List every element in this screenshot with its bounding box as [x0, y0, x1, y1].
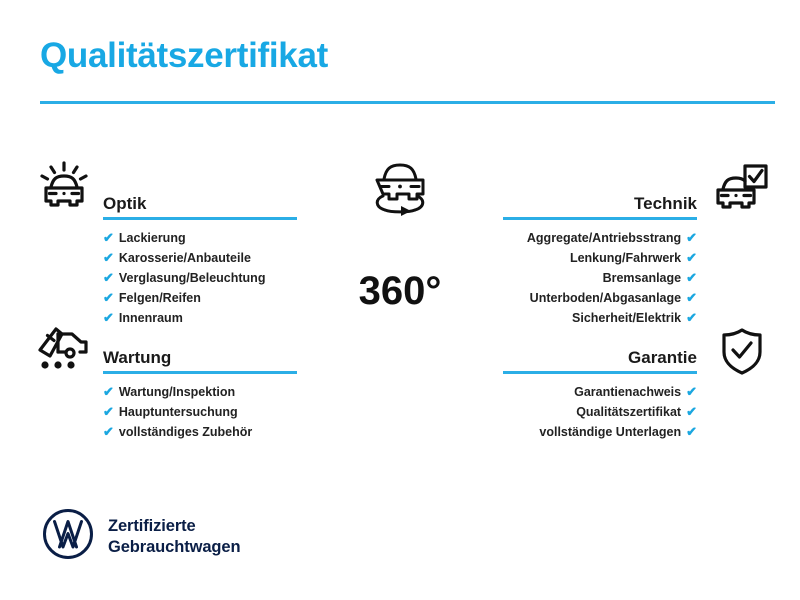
list-item-label: Innenraum — [119, 309, 183, 328]
list-item: ✔Felgen/Reifen — [103, 288, 297, 308]
list-item-label: Lenkung/Fahrwerk — [570, 249, 681, 268]
list-item: ✔Innenraum — [103, 308, 297, 328]
section-optik-underline — [103, 217, 297, 220]
list-item: ✔Hauptuntersuchung — [103, 402, 297, 422]
list-item-label: Unterboden/Abgasanlage — [530, 289, 681, 308]
section-optik: Optik ✔Lackierung ✔Karosserie/Anbauteile… — [103, 186, 297, 328]
section-technik-list: Aggregate/Antriebsstrang✔ Lenkung/Fahrwe… — [503, 228, 697, 328]
car-rotate-icon — [361, 160, 439, 218]
check-icon: ✔ — [686, 228, 697, 247]
list-item-label: Aggregate/Antriebsstrang — [527, 229, 681, 248]
list-item: Unterboden/Abgasanlage✔ — [503, 288, 697, 308]
list-item: ✔Wartung/Inspektion — [103, 382, 297, 402]
shield-check-icon — [718, 326, 766, 381]
page-title: Qualitätszertifikat — [40, 36, 328, 76]
vw-certified-lockup: Zertifizierte Gebrauchtwagen — [42, 508, 240, 565]
vw-wordmark-line2: Gebrauchtwagen — [108, 538, 240, 556]
list-item-label: Hauptuntersuchung — [119, 403, 238, 422]
list-item-label: Verglasung/Beleuchtung — [119, 269, 266, 288]
check-icon: ✔ — [686, 308, 697, 327]
check-icon: ✔ — [103, 228, 114, 247]
list-item: Aggregate/Antriebsstrang✔ — [503, 228, 697, 248]
section-garantie-list: Garantienachweis✔ Qualitätszertifikat✔ v… — [503, 382, 697, 442]
list-item: Bremsanlage✔ — [503, 268, 697, 288]
check-icon: ✔ — [103, 402, 114, 421]
car-service-icon — [34, 320, 90, 377]
vw-wordmark-line1: Zertifizierte — [108, 517, 196, 535]
check-icon: ✔ — [103, 382, 114, 401]
check-icon: ✔ — [103, 268, 114, 287]
svg-text:Gebrauchtwagen-Check: Gebrauchtwagen-Check — [312, 307, 488, 383]
check-icon: ✔ — [686, 268, 697, 287]
check-icon: ✔ — [686, 382, 697, 401]
check-icon: ✔ — [103, 308, 114, 327]
list-item-label: Felgen/Reifen — [119, 289, 201, 308]
list-item: Sicherheit/Elektrik✔ — [503, 308, 697, 328]
check-icon: ✔ — [103, 422, 114, 441]
list-item: Qualitätszertifikat✔ — [503, 402, 697, 422]
list-item: ✔vollständiges Zubehör — [103, 422, 297, 442]
list-item: Lenkung/Fahrwerk✔ — [503, 248, 697, 268]
list-item-label: Wartung/Inspektion — [119, 383, 235, 402]
list-item-label: vollständige Unterlagen — [539, 423, 681, 442]
section-garantie-underline — [503, 371, 697, 374]
section-technik: Technik Aggregate/Antriebsstrang✔ Lenkun… — [503, 186, 697, 328]
check-icon: ✔ — [686, 248, 697, 267]
check-icon: ✔ — [686, 402, 697, 421]
list-item-label: Lackierung — [119, 229, 186, 248]
section-optik-title: Optik — [103, 194, 146, 214]
list-item-label: Sicherheit/Elektrik — [572, 309, 681, 328]
section-wartung-underline — [103, 371, 297, 374]
check-icon: ✔ — [686, 288, 697, 307]
list-item: ✔Karosserie/Anbauteile — [103, 248, 297, 268]
list-item-label: Garantienachweis — [574, 383, 681, 402]
check-icon: ✔ — [686, 422, 697, 441]
list-item: ✔Lackierung — [103, 228, 297, 248]
list-item: vollständige Unterlagen✔ — [503, 422, 697, 442]
list-item: ✔Verglasung/Beleuchtung — [103, 268, 297, 288]
vw-wordmark: Zertifizierte Gebrauchtwagen — [108, 516, 240, 558]
title-divider — [40, 101, 775, 104]
section-garantie-title: Garantie — [628, 348, 697, 368]
certificate-page: Qualitätszertifikat — [0, 0, 800, 600]
badge-arc-label: Gebrauchtwagen-Check — [312, 307, 488, 383]
list-item-label: Karosserie/Anbauteile — [119, 249, 251, 268]
section-wartung-header: Wartung — [103, 340, 297, 374]
check-icon: ✔ — [103, 288, 114, 307]
list-item-label: Qualitätszertifikat — [576, 403, 681, 422]
check-icon: ✔ — [103, 248, 114, 267]
car-shine-icon — [38, 160, 90, 217]
car-checkbox-icon — [712, 162, 768, 219]
section-garantie: Garantie Garantienachweis✔ Qualitätszert… — [503, 340, 697, 442]
section-optik-list: ✔Lackierung ✔Karosserie/Anbauteile ✔Verg… — [103, 228, 297, 328]
list-item-label: vollständiges Zubehör — [119, 423, 252, 442]
badge-center-label: 360° — [359, 269, 442, 313]
vw-logo — [42, 508, 94, 565]
list-item-label: Bremsanlage — [603, 269, 682, 288]
list-item: Garantienachweis✔ — [503, 382, 697, 402]
gebrauchtwagen-check-badge: Gebrauchtwagen-Check 360° — [291, 199, 509, 387]
section-wartung-list: ✔Wartung/Inspektion ✔Hauptuntersuchung ✔… — [103, 382, 297, 442]
section-technik-header: Technik — [503, 186, 697, 220]
section-garantie-header: Garantie — [503, 340, 697, 374]
section-technik-title: Technik — [634, 194, 697, 214]
section-wartung: Wartung ✔Wartung/Inspektion ✔Hauptunters… — [103, 340, 297, 442]
section-technik-underline — [503, 217, 697, 220]
section-optik-header: Optik — [103, 186, 297, 220]
section-wartung-title: Wartung — [103, 348, 171, 368]
